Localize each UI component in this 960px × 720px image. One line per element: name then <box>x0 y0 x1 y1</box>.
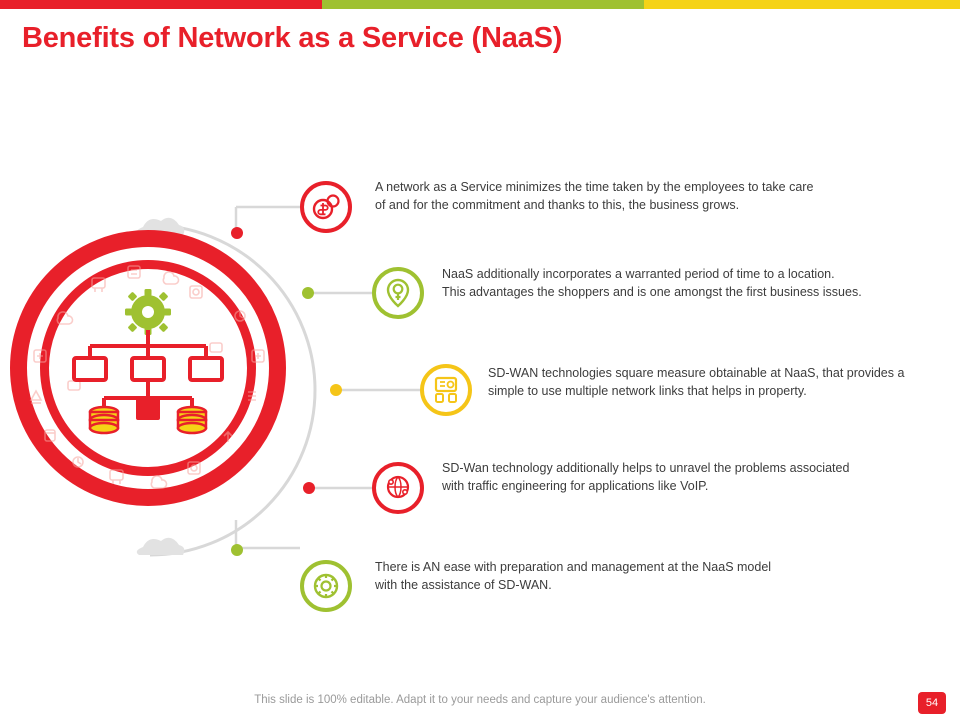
benefit-text-2: NaaS additionally incorporates a warrant… <box>442 265 942 301</box>
page-number-badge: 54 <box>918 692 946 714</box>
benefit-icon-5[interactable] <box>300 560 352 612</box>
location-pin-settings-icon <box>384 278 412 308</box>
benefit-text-4: SD-Wan technology additionally helps to … <box>442 459 942 495</box>
top-color-bar <box>0 0 960 9</box>
page-title: Benefits of Network as a Service (NaaS) <box>22 22 562 55</box>
money-coins-icon <box>311 192 341 222</box>
benefit-icon-3[interactable] <box>420 364 472 416</box>
top-bar-segment-yellow <box>644 0 960 9</box>
benefit-text-5: There is AN ease with preparation and ma… <box>375 558 875 594</box>
topology-diagram <box>66 286 230 450</box>
gear-icon <box>125 289 171 335</box>
benefit-icon-2[interactable] <box>372 267 424 319</box>
server-money-icon <box>431 375 461 405</box>
top-bar-segment-green <box>322 0 644 9</box>
benefit-icon-4[interactable] <box>372 462 424 514</box>
top-bar-segment-red <box>0 0 322 9</box>
gear-settings-icon <box>311 571 341 601</box>
footer-note: This slide is 100% editable. Adapt it to… <box>0 694 960 706</box>
benefit-icon-1[interactable] <box>300 181 352 233</box>
benefit-text-3: SD-WAN technologies square measure obtai… <box>488 364 958 400</box>
diagram-stage: A network as a Service minimizes the tim… <box>0 90 960 670</box>
network-topology-ring <box>10 230 286 506</box>
benefit-text-1: A network as a Service minimizes the tim… <box>375 178 875 214</box>
network-globe-icon <box>383 473 413 503</box>
